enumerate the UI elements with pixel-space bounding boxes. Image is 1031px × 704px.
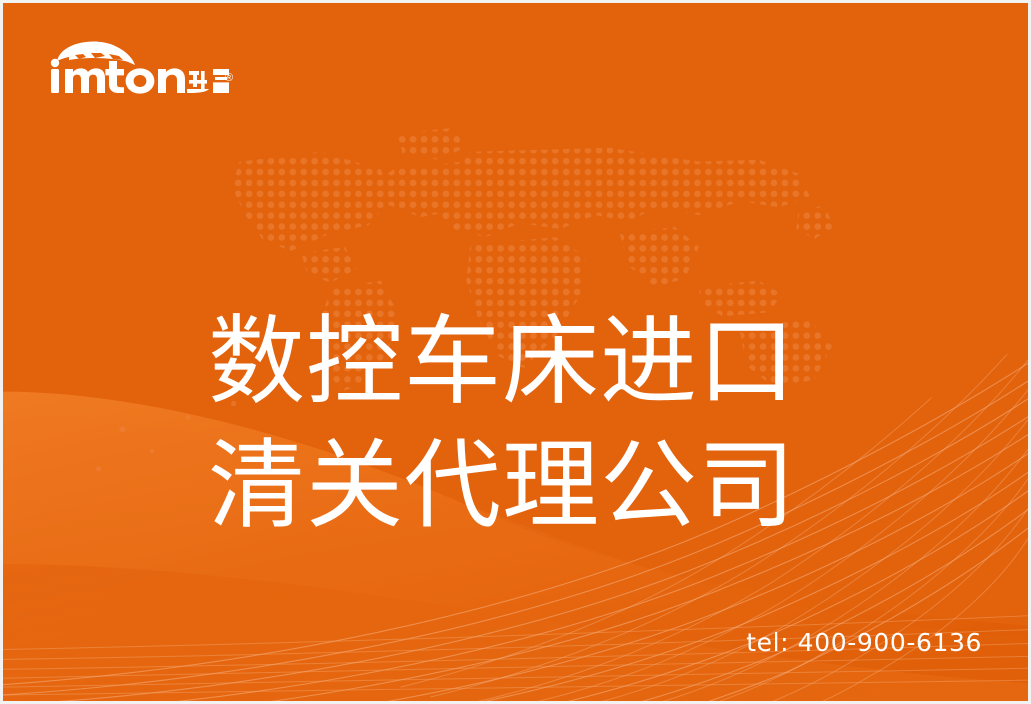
brand-logo[interactable]: ® bbox=[39, 35, 239, 103]
globe-icon bbox=[57, 42, 135, 65]
contact-phone[interactable]: tel: 400-900-6136 bbox=[746, 628, 982, 657]
registered-trademark-icon: ® bbox=[225, 73, 233, 84]
page-title: 数控车床进口 清关代理公司 bbox=[208, 300, 848, 548]
logo-wordmark bbox=[51, 59, 185, 94]
logo-mark bbox=[39, 35, 239, 103]
logo-chinese-name bbox=[187, 69, 229, 93]
headline-line-2: 清关代理公司 bbox=[208, 424, 848, 548]
promo-banner: ® 数控车床进口 清关代理公司 tel: 400-900-6136 bbox=[0, 0, 1031, 704]
headline-line-1: 数控车床进口 bbox=[208, 300, 848, 424]
